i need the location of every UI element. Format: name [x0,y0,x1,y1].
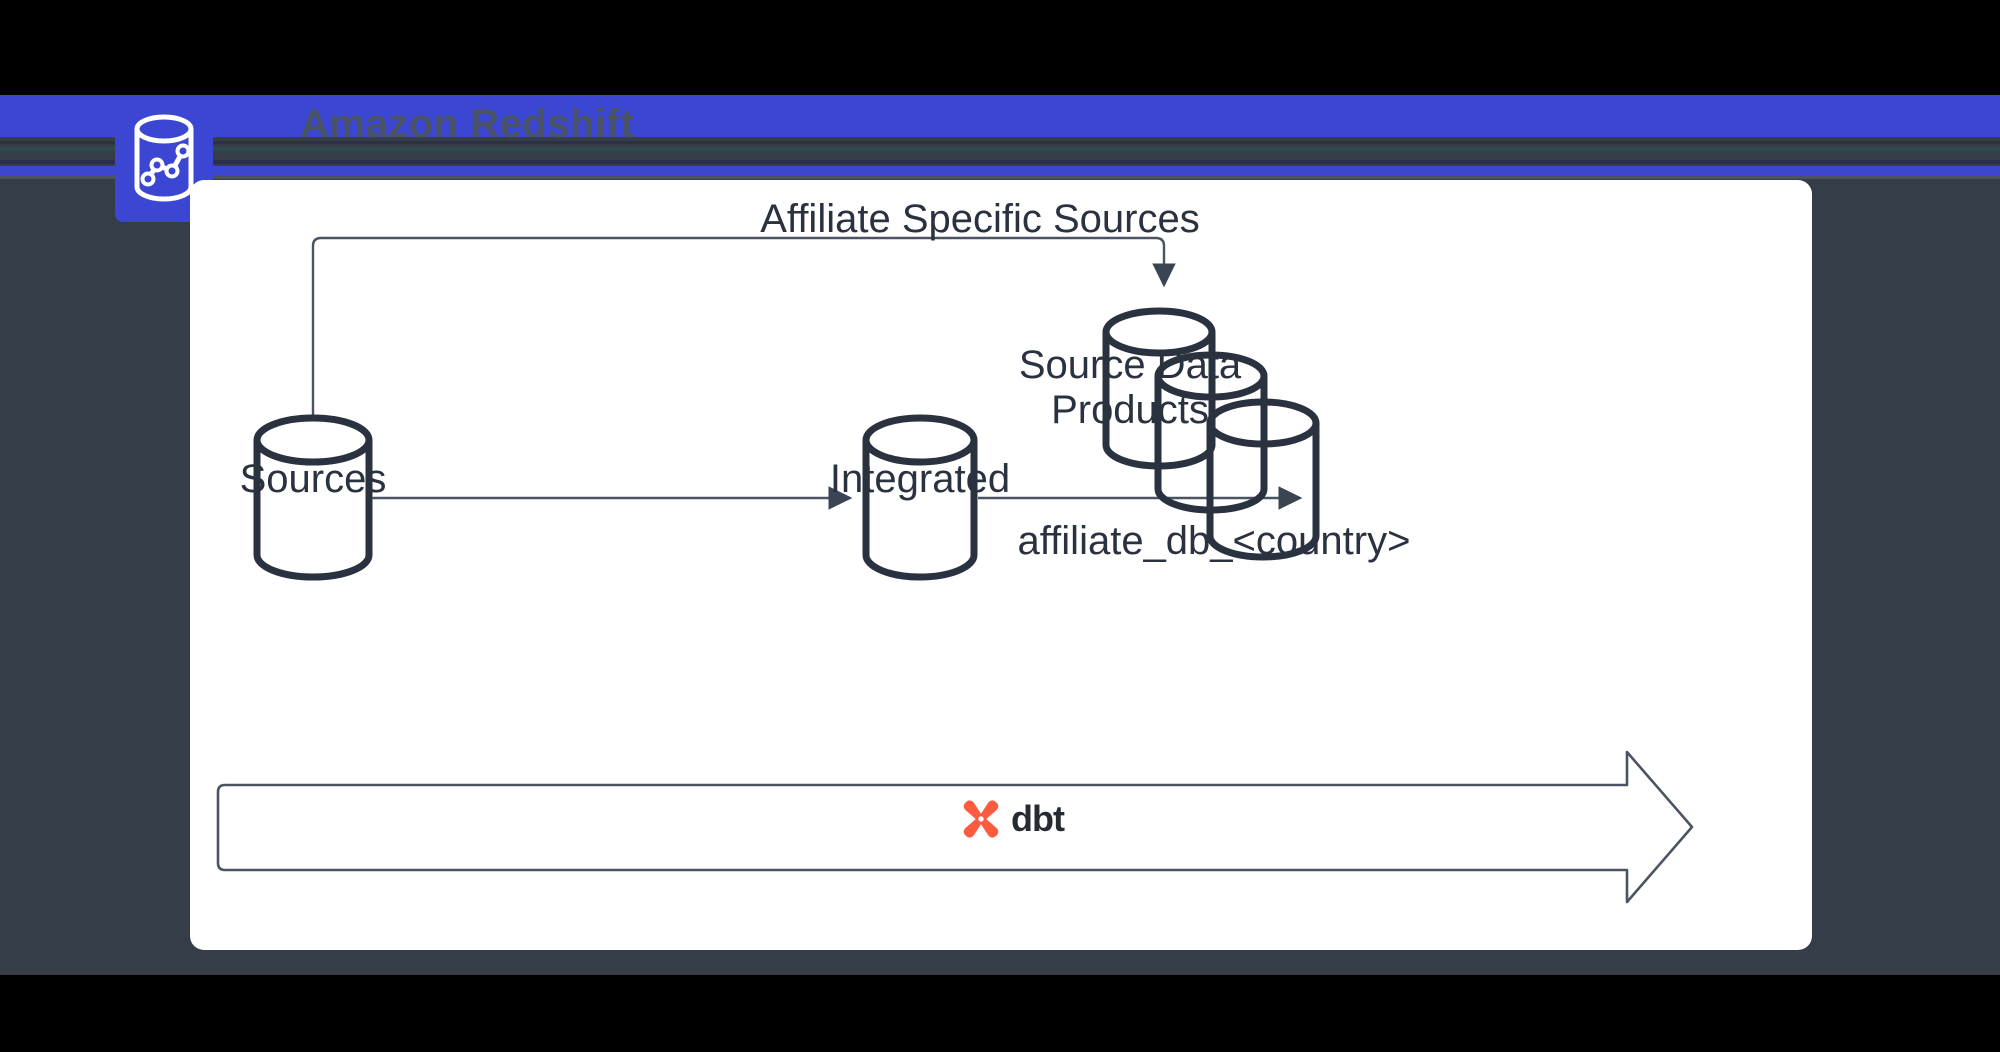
dbt-pipeline-banner [218,752,1692,902]
label-integrated: Integrated [830,457,1010,501]
dbt-logo: dbt [960,798,1064,840]
redshift-database-analytics-icon [132,113,196,205]
header-divider-stripe-3 [0,160,2000,164]
header-divider-stripe-4 [0,166,2000,175]
label-affiliate-specific-sources: Affiliate Specific Sources [760,197,1199,241]
label-sources: Sources [240,457,387,501]
letterbox-bottom [0,975,2000,1052]
edge-affiliate-specific-sources [313,238,1164,418]
label-source-data-line1: Source Data [1019,343,1242,387]
page-title: Amazon Redshift [300,100,1000,148]
dbt-x-mark-icon [960,798,1002,840]
header-divider-stripe-5 [0,175,2000,179]
label-affiliate-db: affiliate_db_<country> [1018,519,1411,563]
label-source-data-line2: Products [1051,388,1209,432]
letterbox-top [0,0,2000,95]
dbt-wordmark: dbt [1011,798,1064,840]
